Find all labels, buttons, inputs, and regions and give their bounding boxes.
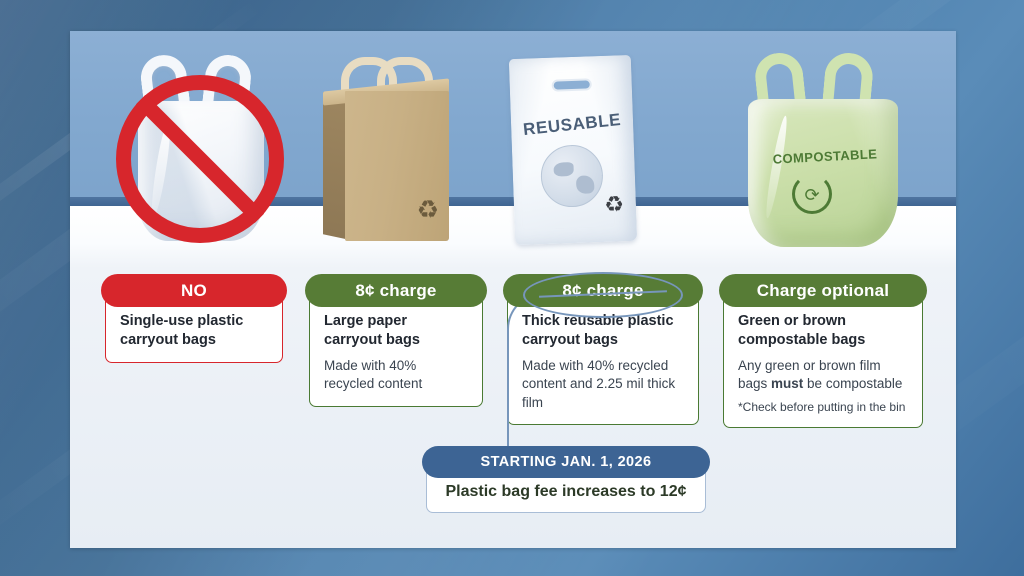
card-compostable-bags: Charge optional Green or brown compostab…	[719, 274, 927, 428]
card-subtext-emphasis: must	[771, 376, 803, 391]
card-title: Single-use plastic carryout bags	[120, 312, 268, 350]
card-footnote: *Check before putting in the bin	[738, 400, 908, 416]
recycle-icon: ♻	[604, 193, 624, 216]
card-subtext: Made with 40% recycled content	[324, 357, 468, 393]
callout-header: STARTING JAN. 1, 2026	[422, 446, 710, 478]
bag-body: REUSABLE ♻	[509, 55, 637, 245]
card-header-badge: 8¢ charge	[305, 274, 487, 307]
plastic-bag-illustration	[106, 49, 296, 249]
card-title: Green or brown compostable bags	[738, 312, 908, 350]
infographic-panel: ♻ REUSABLE ♻ COMPOSTABLE ⟳ NO	[70, 31, 956, 548]
infographic-stage: ♻ REUSABLE ♻ COMPOSTABLE ⟳ NO	[0, 0, 1024, 576]
callout-text: Plastic bag fee increases to 12¢	[437, 481, 695, 502]
card-no-single-use-plastic: NO Single-use plastic carryout bags	[101, 274, 287, 363]
category-cards-row: NO Single-use plastic carryout bags 8¢ c…	[70, 274, 956, 464]
reusable-bag-illustration: REUSABLE ♻	[502, 43, 652, 253]
card-body: Thick reusable plastic carryout bags Mad…	[507, 292, 699, 425]
card-header-badge: NO	[101, 274, 287, 307]
callout-starting-jan-2026: STARTING JAN. 1, 2026 Plastic bag fee in…	[422, 446, 710, 513]
paper-bag-illustration: ♻	[315, 57, 475, 252]
card-thick-reusable-plastic-bags: 8¢ charge Thick reusable plastic carryou…	[503, 274, 703, 425]
card-body: Green or brown compostable bags Any gree…	[723, 292, 923, 428]
no-prohibition-icon	[116, 75, 284, 243]
card-subtext: Made with 40% recycled content and 2.25 …	[522, 357, 684, 412]
bag-body	[748, 99, 898, 247]
card-subtext-suffix: be compostable	[803, 376, 902, 391]
compostable-bag-illustration: COMPOSTABLE ⟳	[730, 49, 920, 254]
die-cut-handle	[552, 78, 592, 91]
card-title: Large paper carryout bags	[324, 312, 468, 350]
bag-front-panel: ♻	[345, 91, 449, 241]
card-title: Thick reusable plastic carryout bags	[522, 312, 684, 350]
recycle-icon: ♻	[417, 198, 439, 223]
card-header-badge: 8¢ charge	[503, 274, 703, 307]
card-large-paper-bags: 8¢ charge Large paper carryout bags Made…	[305, 274, 487, 407]
card-header-badge: Charge optional	[719, 274, 927, 307]
compost-icon: ⟳	[792, 174, 832, 214]
card-subtext: Any green or brown film bags must be com…	[738, 357, 908, 393]
card-body: Large paper carryout bags Made with 40% …	[309, 292, 483, 407]
